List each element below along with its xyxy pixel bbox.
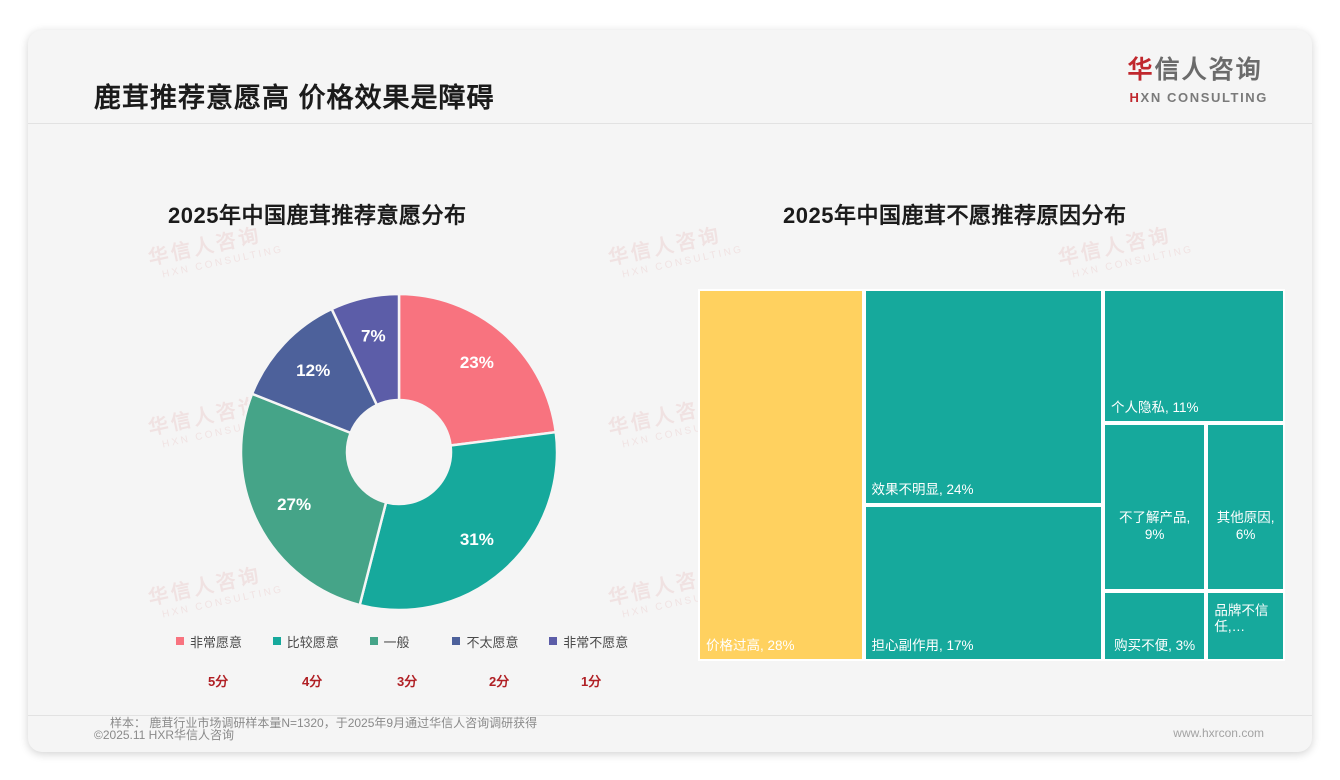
donut-slice-label: 27% bbox=[277, 495, 311, 514]
slide-canvas: 华信人咨询 HXN CONSULTING 华信人咨询 HXN CONSULTIN… bbox=[28, 30, 1312, 752]
legend-label: 非常愿意 bbox=[190, 632, 242, 651]
left-chart-title: 2025年中国鹿茸推荐意愿分布 bbox=[168, 198, 466, 230]
logo-english: HXN CONSULTING bbox=[1130, 91, 1268, 104]
legend-label: 非常不愿意 bbox=[563, 632, 628, 651]
treemap-cell[interactable]: 个人隐私, 11% bbox=[1103, 289, 1285, 423]
score-label-3: 3分 bbox=[397, 671, 417, 690]
donut-slice-label: 31% bbox=[460, 530, 494, 549]
treemap-cell-label: 担心副作用, 17% bbox=[866, 638, 1101, 655]
logo-rest-chars: 信人咨询 bbox=[1155, 56, 1263, 84]
legend-swatch-icon bbox=[549, 637, 557, 645]
brand-logo: 华信人咨询 HXN CONSULTING bbox=[1128, 58, 1268, 104]
watermark-en: HXN CONSULTING bbox=[161, 244, 284, 280]
slide-footer: ©2025.11 HXR华信人咨询 www.hxrcon.com bbox=[28, 715, 1312, 752]
donut-slice-label: 23% bbox=[460, 353, 494, 372]
legend-item-4[interactable]: 非常不愿意 bbox=[549, 631, 646, 651]
website-url[interactable]: www.hxrcon.com bbox=[1173, 726, 1264, 740]
copyright-text: ©2025.11 HXR华信人咨询 bbox=[94, 726, 234, 743]
treemap-cell[interactable]: 其他原因, 6% bbox=[1206, 423, 1285, 592]
treemap-cell-label: 其他原因, 6% bbox=[1208, 510, 1283, 544]
logo-en-rest: XN CONSULTING bbox=[1141, 90, 1268, 105]
donut-slice[interactable] bbox=[360, 432, 557, 610]
treemap-cell[interactable]: 价格过高, 28% bbox=[698, 289, 864, 661]
donut-slice-label: 12% bbox=[296, 361, 330, 380]
score-axis: 5分4分3分2分1分 bbox=[176, 671, 646, 691]
page-title: 鹿茸推荐意愿高 价格效果是障碍 bbox=[94, 76, 495, 115]
treemap-cell-label: 不了解产品, 9% bbox=[1105, 510, 1204, 544]
legend-item-0[interactable]: 非常愿意 bbox=[176, 631, 273, 651]
score-label-2: 2分 bbox=[489, 671, 509, 690]
treemap-cell-label: 购买不便, 3% bbox=[1105, 638, 1204, 655]
treemap-cell[interactable]: 不了解产品, 9% bbox=[1103, 423, 1206, 592]
legend-label: 比较愿意 bbox=[287, 632, 339, 651]
watermark-en: HXN CONSULTING bbox=[621, 244, 744, 280]
legend-item-3[interactable]: 不太愿意 bbox=[452, 631, 549, 651]
treemap-cell-label: 效果不明显, 24% bbox=[866, 482, 1101, 499]
treemap-cell-label: 个人隐私, 11% bbox=[1105, 400, 1283, 417]
treemap-cell[interactable]: 效果不明显, 24% bbox=[864, 289, 1103, 505]
score-label-5: 5分 bbox=[208, 671, 228, 690]
donut-chart: 23%31%27%12%7% bbox=[225, 278, 573, 626]
treemap-cell[interactable]: 品牌不信任,… bbox=[1206, 591, 1285, 661]
watermark: 华信人咨询 HXN CONSULTING bbox=[605, 215, 744, 283]
treemap-cell[interactable]: 购买不便, 3% bbox=[1103, 591, 1206, 661]
donut-legend: 非常愿意比较愿意一般不太愿意非常不愿意 bbox=[176, 631, 646, 651]
right-chart-title: 2025年中国鹿茸不愿推荐原因分布 bbox=[783, 198, 1126, 230]
treemap-cell[interactable]: 担心副作用, 17% bbox=[864, 505, 1103, 661]
legend-swatch-icon bbox=[176, 637, 184, 645]
legend-label: 不太愿意 bbox=[466, 632, 518, 651]
logo-accent-char: 华 bbox=[1128, 56, 1155, 84]
legend-swatch-icon bbox=[370, 637, 378, 645]
donut-chart-svg: 23%31%27%12%7% bbox=[225, 278, 573, 626]
score-label-4: 4分 bbox=[302, 671, 322, 690]
donut-slice-label: 7% bbox=[361, 327, 386, 346]
treemap-chart: 价格过高, 28%效果不明显, 24%担心副作用, 17%个人隐私, 11%不了… bbox=[698, 289, 1285, 661]
legend-swatch-icon bbox=[452, 637, 460, 645]
legend-item-2[interactable]: 一般 bbox=[370, 631, 453, 651]
legend-item-1[interactable]: 比较愿意 bbox=[273, 631, 370, 651]
score-label-1: 1分 bbox=[581, 671, 601, 690]
legend-label: 一般 bbox=[384, 632, 410, 651]
watermark-en: HXN CONSULTING bbox=[1071, 244, 1194, 280]
legend-swatch-icon bbox=[273, 637, 281, 645]
treemap-cell-label: 价格过高, 28% bbox=[700, 638, 862, 655]
slide-header: 鹿茸推荐意愿高 价格效果是障碍 华信人咨询 HXN CONSULTING bbox=[28, 30, 1312, 124]
logo-chinese: 华信人咨询 bbox=[1128, 58, 1268, 83]
logo-en-accent: H bbox=[1130, 90, 1141, 105]
watermark-cn: 华信人咨询 bbox=[605, 215, 742, 271]
donut-slice[interactable] bbox=[241, 394, 386, 605]
treemap-cell-label: 品牌不信任,… bbox=[1208, 603, 1283, 637]
